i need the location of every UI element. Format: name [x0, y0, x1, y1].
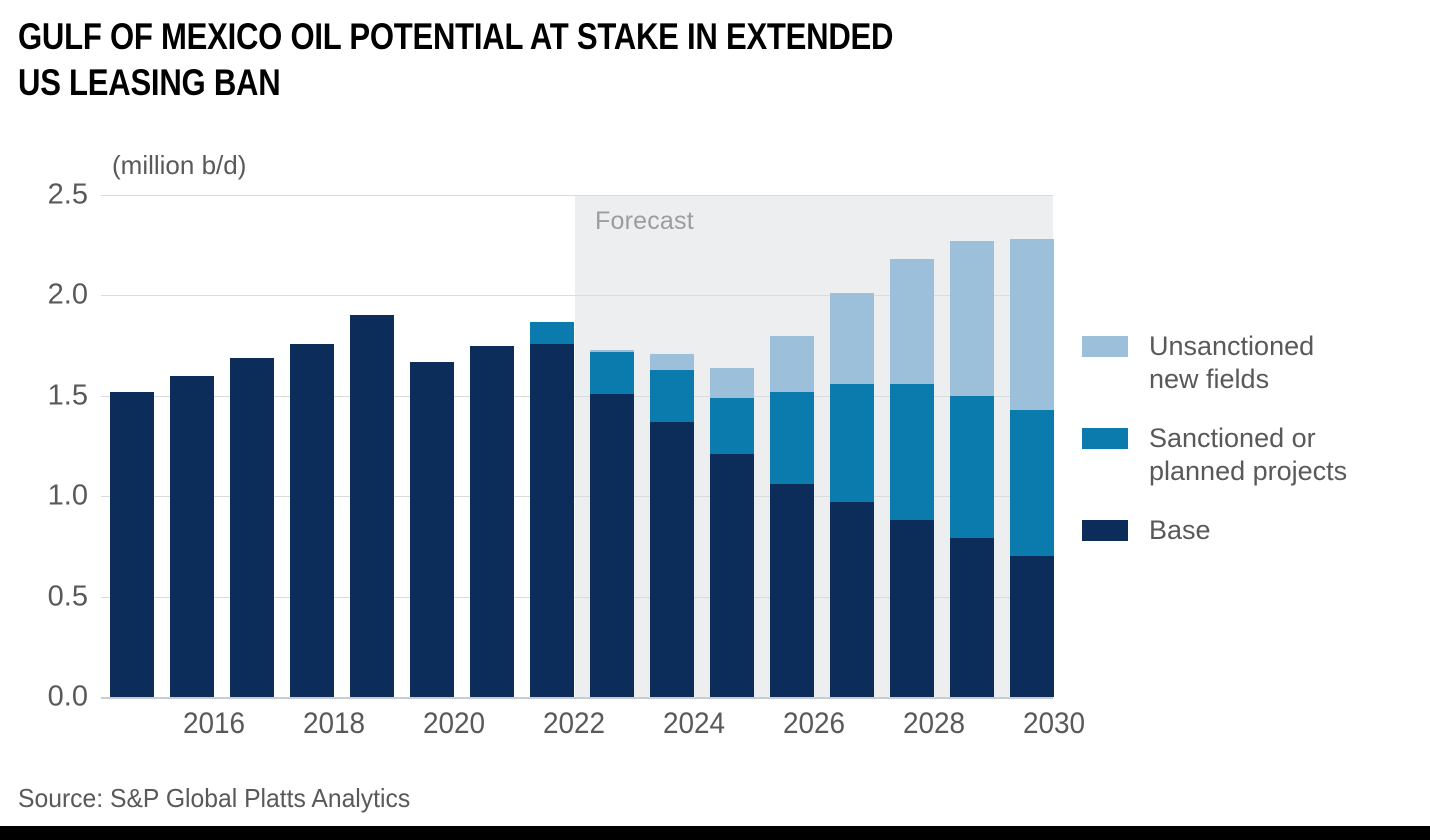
y-axis-tick-label: 0.0 — [10, 681, 88, 714]
legend-swatch-icon — [1082, 336, 1128, 357]
chart-title: GULF OF MEXICO OIL POTENTIAL AT STAKE IN… — [18, 14, 1026, 106]
bar-segment — [530, 322, 574, 344]
bar-segment — [650, 370, 694, 422]
footer-bar — [0, 826, 1430, 840]
x-axis-tick-label: 2024 — [638, 707, 750, 741]
bar-segment — [770, 392, 814, 484]
bar — [290, 344, 334, 697]
x-axis-tick-label: 2020 — [398, 707, 510, 741]
y-axis-tick-label: 1.5 — [10, 379, 88, 412]
bar-segment — [650, 354, 694, 370]
y-axis-tick-label: 0.5 — [10, 580, 88, 613]
bar — [230, 358, 274, 697]
bar — [410, 362, 454, 697]
bar-segment — [770, 484, 814, 697]
legend-item[interactable]: Unsanctioned new fields — [1082, 330, 1422, 396]
bar-segment — [590, 350, 634, 352]
bar-segment — [830, 384, 874, 502]
x-axis-line — [101, 697, 1053, 699]
bar-segment — [890, 384, 934, 521]
bar-segment — [830, 502, 874, 697]
bar-segment — [770, 336, 814, 392]
bar-segment — [590, 352, 634, 394]
bar — [770, 336, 814, 697]
gridline — [101, 195, 1053, 196]
bar-segment — [470, 346, 514, 697]
bar — [1010, 239, 1054, 697]
bar-segment — [950, 538, 994, 697]
bar-segment — [410, 362, 454, 697]
x-axis-tick-label: 2028 — [878, 707, 990, 741]
y-axis-tick-label: 2.0 — [10, 279, 88, 312]
x-axis-tick-label: 2026 — [758, 707, 870, 741]
bar — [110, 392, 154, 697]
bar-segment — [890, 520, 934, 697]
legend-label: Sanctioned or planned projects — [1149, 422, 1422, 488]
bar — [170, 376, 214, 697]
x-axis-tick-label: 2030 — [998, 707, 1110, 741]
bar-segment — [1010, 556, 1054, 697]
legend-swatch-icon — [1082, 428, 1128, 449]
source-note: Source: S&P Global Platts Analytics — [18, 783, 410, 814]
y-axis-tick-label: 1.0 — [10, 480, 88, 513]
bar-segment — [230, 358, 274, 697]
chart-legend: Unsanctioned new fieldsSanctioned or pla… — [1082, 330, 1422, 584]
bar-segment — [590, 394, 634, 697]
bar-segment — [290, 344, 334, 697]
legend-label: Unsanctioned new fields — [1149, 330, 1422, 396]
chart-container: GULF OF MEXICO OIL POTENTIAL AT STAKE IN… — [0, 0, 1430, 840]
bar-segment — [710, 368, 754, 398]
x-axis-tick-label: 2022 — [518, 707, 630, 741]
bar-segment — [710, 454, 754, 697]
bar-segment — [530, 344, 574, 697]
bar — [470, 346, 514, 697]
bar-segment — [350, 315, 394, 697]
bar — [890, 259, 934, 697]
bar-segment — [650, 422, 694, 697]
bar — [530, 322, 574, 697]
legend-swatch-icon — [1082, 520, 1128, 541]
forecast-label: Forecast — [595, 207, 694, 236]
bar-segment — [170, 376, 214, 697]
bar-segment — [950, 241, 994, 396]
x-axis-tick-label: 2016 — [158, 707, 270, 741]
bar — [350, 315, 394, 697]
bar-segment — [1010, 410, 1054, 557]
bar-segment — [710, 398, 754, 454]
bar — [950, 241, 994, 697]
y-axis-units-label: (million b/d) — [112, 150, 246, 181]
bar-segment — [1010, 239, 1054, 410]
bar — [830, 293, 874, 697]
bar — [650, 354, 694, 697]
bar — [710, 368, 754, 697]
bar-segment — [950, 396, 994, 539]
plot-area: Forecast 0.00.51.01.52.02.5 201620182020… — [110, 195, 1053, 697]
legend-item[interactable]: Sanctioned or planned projects — [1082, 422, 1422, 488]
legend-item[interactable]: Base — [1082, 514, 1422, 558]
bar-segment — [110, 392, 154, 697]
x-axis-tick-label: 2018 — [278, 707, 390, 741]
legend-label: Base — [1149, 514, 1422, 547]
bar-segment — [830, 293, 874, 383]
y-axis-tick-label: 2.5 — [10, 179, 88, 212]
bar — [590, 350, 634, 697]
bar-segment — [890, 259, 934, 383]
